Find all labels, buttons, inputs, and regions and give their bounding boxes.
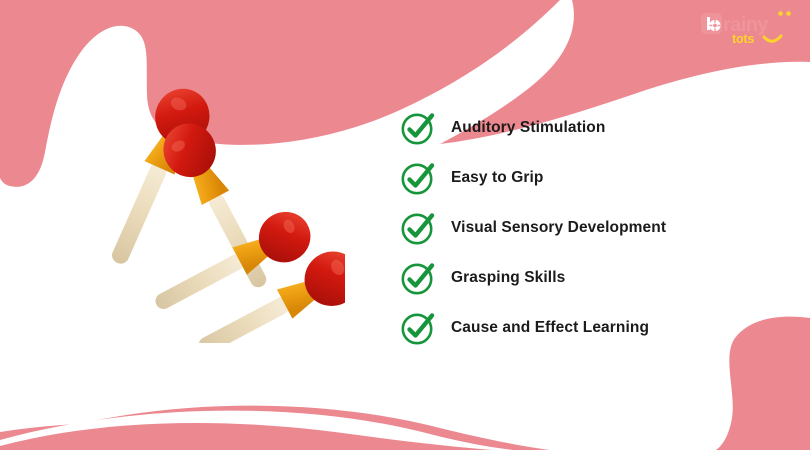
white-sliver-bottom: [0, 411, 560, 450]
feature-label: Visual Sensory Development: [451, 220, 666, 236]
check-circle-icon: [400, 160, 436, 196]
feature-label: Grasping Skills: [451, 270, 565, 286]
feature-item: Grasping Skills: [400, 253, 790, 303]
pink-wave-bottom: [0, 406, 640, 450]
feature-item: Auditory Stimulation: [400, 103, 790, 153]
logo-dot-left: [778, 11, 783, 16]
logo-word-tots: tots: [732, 32, 754, 46]
product-feature-banner: Auditory Stimulation Easy to Grip Visual…: [0, 0, 810, 450]
check-circle-icon: [400, 210, 436, 246]
logo-smile-icon: [764, 36, 781, 41]
product-image-maracas: [55, 68, 345, 343]
feature-label: Auditory Stimulation: [451, 120, 605, 136]
feature-item: Cause and Effect Learning: [400, 303, 790, 353]
pink-arc-bottom-left: [0, 423, 500, 450]
feature-list: Auditory Stimulation Easy to Grip Visual…: [400, 103, 790, 353]
feature-label: Easy to Grip: [451, 170, 544, 186]
logo-dot-right: [786, 11, 791, 16]
feature-item: Visual Sensory Development: [400, 203, 790, 253]
check-circle-icon: [400, 260, 436, 296]
check-circle-icon: [400, 110, 436, 146]
feature-item: Easy to Grip: [400, 153, 790, 203]
feature-label: Cause and Effect Learning: [451, 320, 649, 336]
check-circle-icon: [400, 310, 436, 346]
brainy-tots-logo: rainy tots: [700, 8, 796, 48]
logo-mark-icon: [701, 13, 722, 34]
